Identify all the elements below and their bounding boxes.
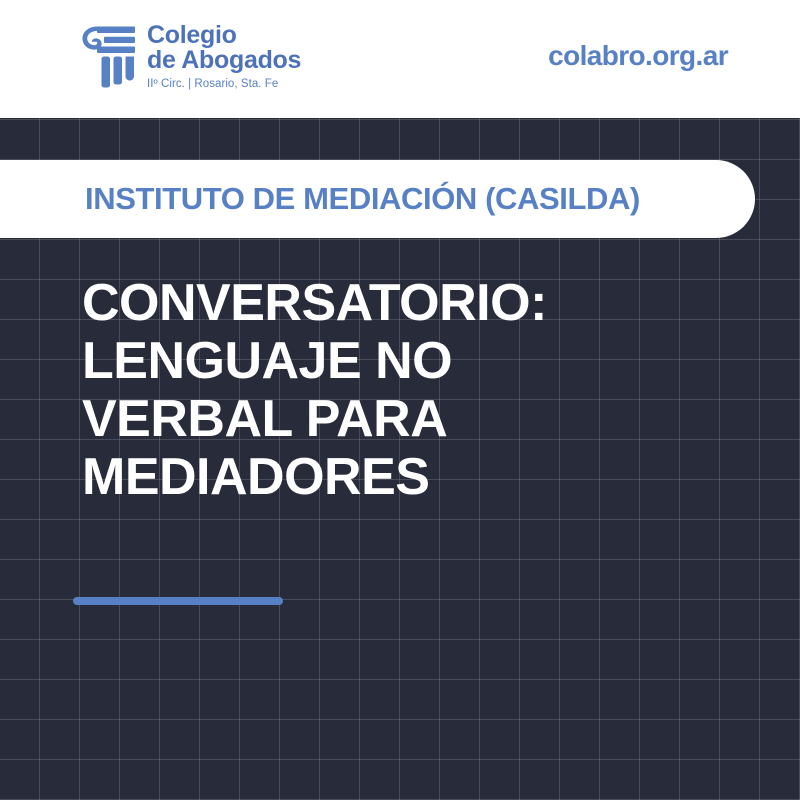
accent-underline-bar [73, 597, 283, 605]
brand-name-line-1: Colegio [147, 23, 301, 48]
title-line-2: LENGUAJE NO [82, 332, 722, 390]
event-flyer: Colegio de Abogados IIº Circ. | Rosario,… [0, 0, 800, 800]
title-line-4: MEDIADORES [82, 448, 722, 506]
title-line-3: VERBAL PARA [82, 390, 722, 448]
dark-grid-panel: INSTITUTO DE MEDIACIÓN (CASILDA) CONVERS… [0, 118, 800, 800]
classical-column-capital-icon [80, 22, 138, 90]
title-line-1: CONVERSATORIO: [82, 274, 722, 332]
brand-lockup: Colegio de Abogados IIº Circ. | Rosario,… [80, 22, 301, 91]
header-bar: Colegio de Abogados IIº Circ. | Rosario,… [0, 0, 800, 118]
brand-name-line-2: de Abogados [147, 48, 301, 73]
brand-text-block: Colegio de Abogados IIº Circ. | Rosario,… [147, 22, 301, 91]
institute-banner-pill: INSTITUTO DE MEDIACIÓN (CASILDA) [0, 160, 755, 238]
website-url[interactable]: colabro.org.ar [548, 40, 728, 72]
brand-tagline: IIº Circ. | Rosario, Sta. Fe [147, 78, 301, 91]
page-title: CONVERSATORIO: LENGUAJE NO VERBAL PARA M… [82, 274, 722, 506]
institute-banner-label: INSTITUTO DE MEDIACIÓN (CASILDA) [85, 182, 640, 216]
